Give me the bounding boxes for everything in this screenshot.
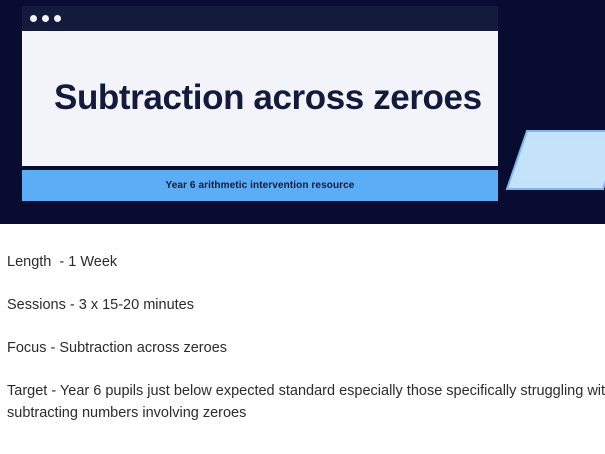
window-dot-icon-2[interactable] <box>42 15 49 22</box>
window-controls <box>30 15 61 22</box>
detail-paragraph-target: Target - Year 6 pupils just below expect… <box>7 381 605 425</box>
slide-window-frame: Subtraction across zeroes Year 6 arithme… <box>22 6 498 201</box>
detail-line-length: Length - 1 Week <box>7 252 605 273</box>
hero-banner: Subtraction across zeroes Year 6 arithme… <box>0 0 605 224</box>
slide-card: Subtraction across zeroes <box>22 31 498 166</box>
content-body: Length - 1 Week Sessions - 3 x 15-20 min… <box>0 224 605 454</box>
detail-line-focus: Focus - Subtraction across zeroes <box>7 338 605 359</box>
page-root: Subtraction across zeroes Year 6 arithme… <box>0 0 605 454</box>
detail-line-sessions: Sessions - 3 x 15-20 minutes <box>7 295 605 316</box>
window-titlebar <box>22 6 498 31</box>
window-dot-icon-1[interactable] <box>30 15 37 22</box>
slide-subtitle-bar: Year 6 arithmetic intervention resource <box>22 170 498 201</box>
slide-subtitle-text: Year 6 arithmetic intervention resource <box>166 180 355 191</box>
window-dot-icon-3[interactable] <box>54 15 61 22</box>
slide-title: Subtraction across zeroes <box>22 80 482 117</box>
parallelogram-decoration-icon <box>505 129 605 191</box>
